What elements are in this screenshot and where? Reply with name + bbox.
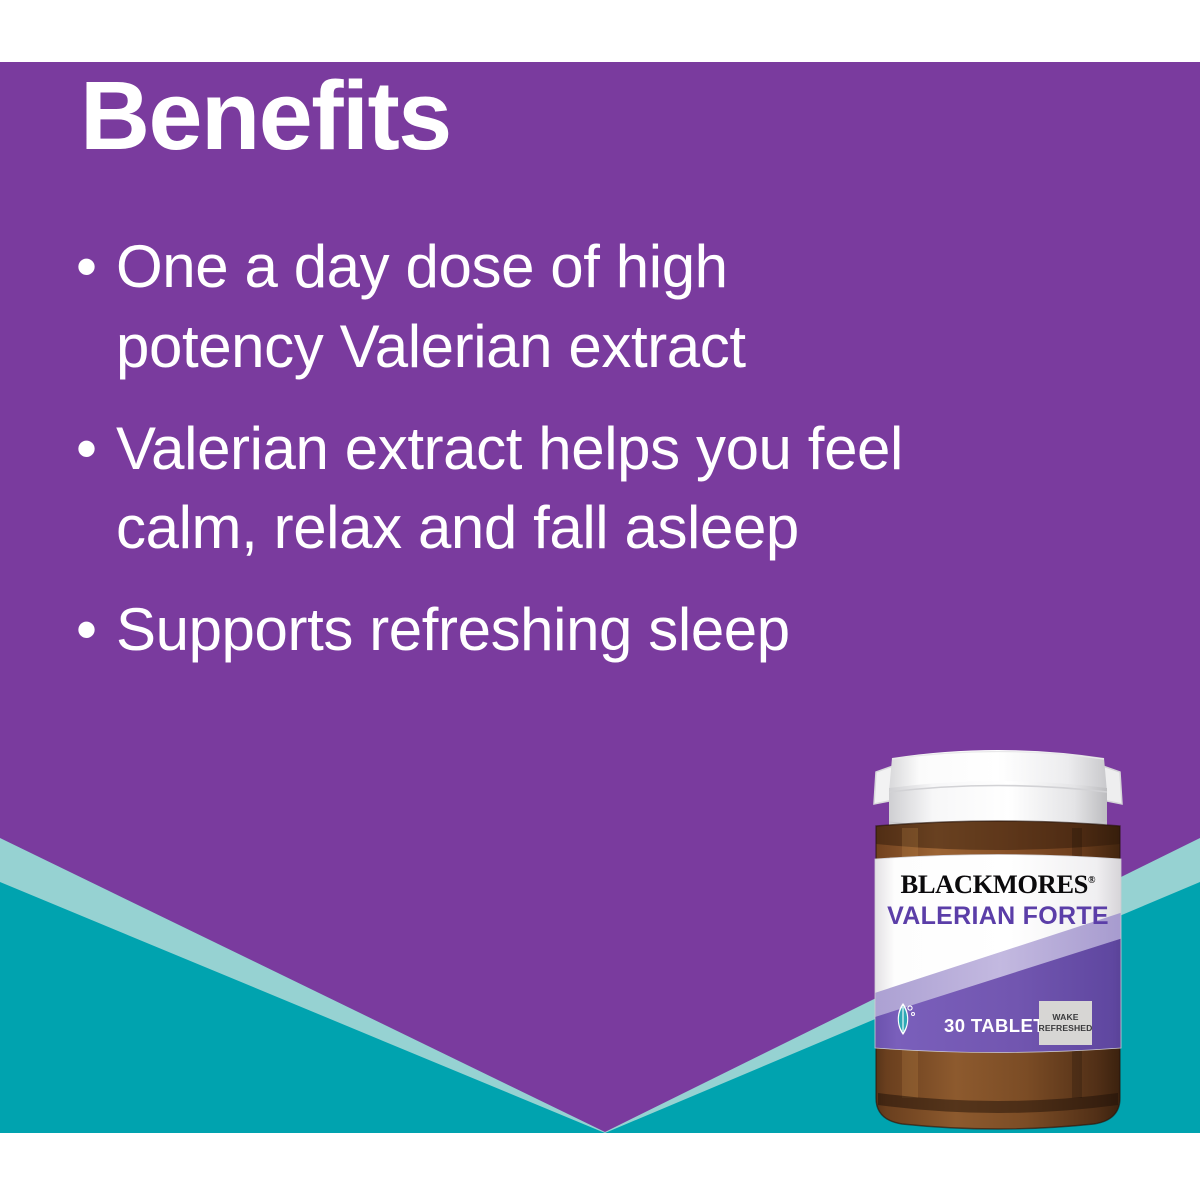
benefit-text: One a day dose of high potency Valerian …	[116, 233, 746, 380]
bullet-marker-icon: •	[76, 227, 97, 307]
benefit-text: Valerian extract helps you feel calm, re…	[116, 415, 903, 562]
page-title: Benefits	[80, 62, 451, 171]
bullet-marker-icon: •	[76, 590, 97, 670]
product-benefits-banner: Benefits • One a day dose of high potenc…	[0, 0, 1200, 1200]
list-item: • Valerian extract helps you feel calm, …	[72, 409, 976, 569]
list-item: • Supports refreshing sleep	[72, 590, 816, 670]
benefit-text: Supports refreshing sleep	[116, 596, 790, 663]
benefits-list: • One a day dose of high potency Valeria…	[72, 227, 972, 692]
bullet-marker-icon: •	[76, 409, 97, 489]
bottle-illustration	[858, 718, 1138, 1138]
product-bottle-image: BLACKMORES® VALERIAN FORTE 30 TABLETS WA…	[858, 718, 1138, 1138]
list-item: • One a day dose of high potency Valeria…	[72, 227, 906, 387]
